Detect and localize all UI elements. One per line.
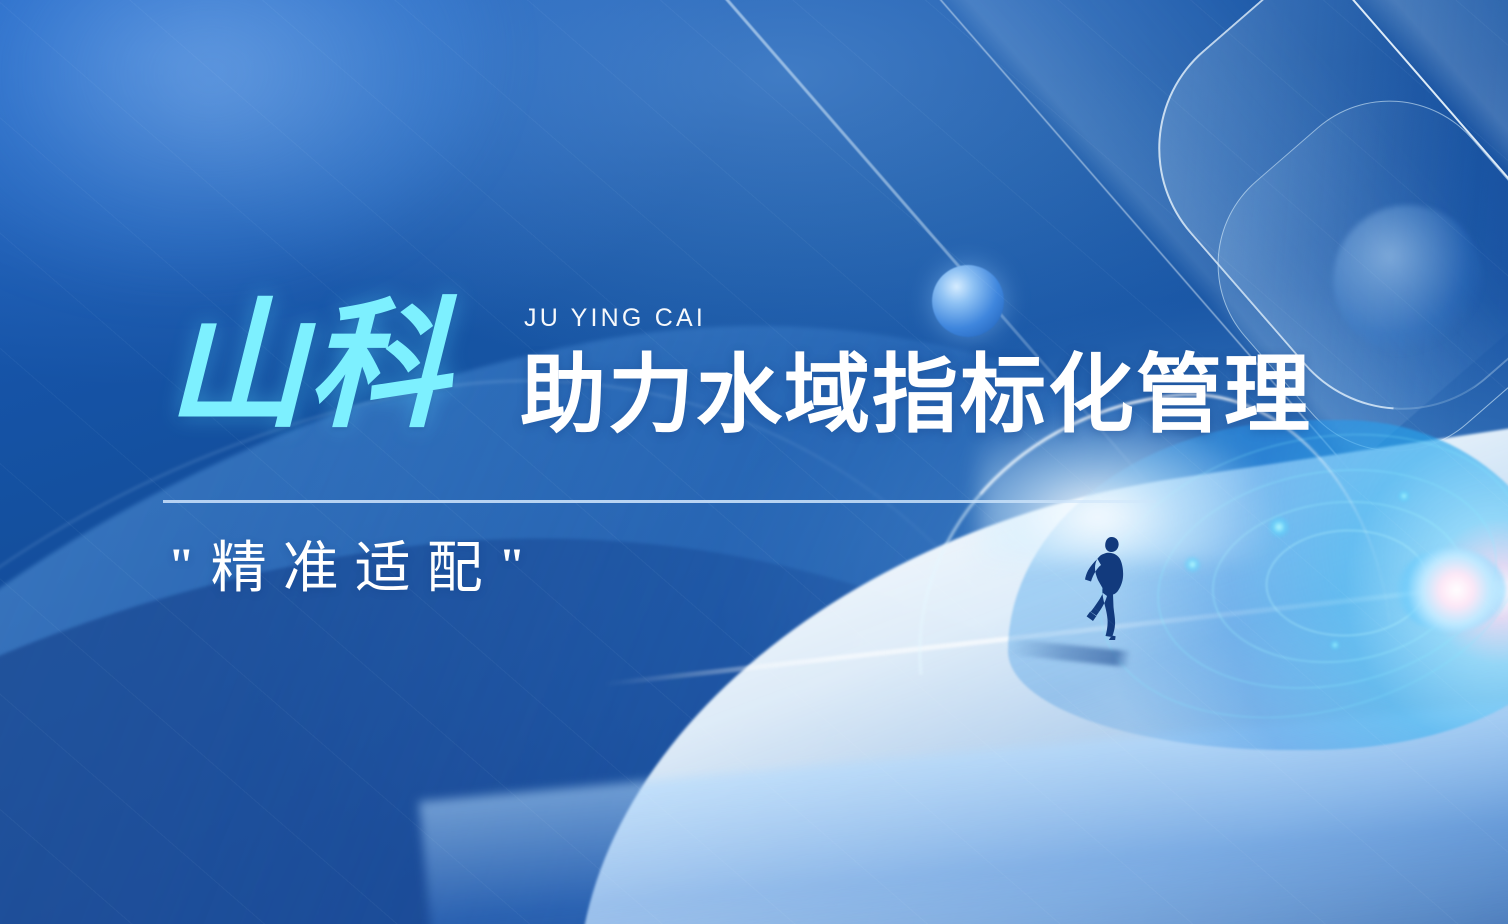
tagline-quote: "精准适配" [168, 540, 541, 596]
headline-text: 助力水域指标化管理 [520, 352, 1312, 438]
brand-pinyin: JU YING CAI [524, 306, 706, 331]
tagline-text: 精准适配 [211, 536, 499, 599]
brand-name: 山科 [166, 296, 450, 436]
banner-content: 山科 JU YING CAI 助力水域指标化管理 "精准适配" [0, 0, 1508, 924]
promotional-banner: 山科 JU YING CAI 助力水域指标化管理 "精准适配" [0, 0, 1508, 924]
divider-line [163, 500, 1156, 503]
quote-mark-close: " [499, 539, 542, 592]
quote-mark-open: " [168, 539, 211, 592]
